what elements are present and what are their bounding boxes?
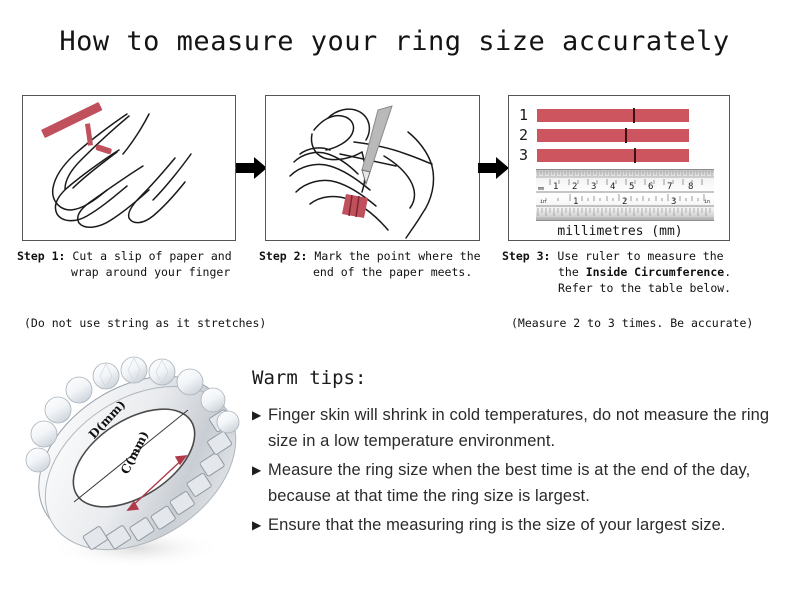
ruler-graphic: 1 2 3 4 5 6 7 8 mm 1 2 (536, 169, 714, 221)
strip-row-1: 1 (519, 108, 689, 123)
svg-text:6: 6 (648, 182, 653, 192)
strip-number-1: 1 (519, 108, 537, 123)
step-1-note: (Do not use string as it stretches) (24, 316, 266, 330)
triangle-bullet-icon: ▶ (252, 402, 268, 428)
measured-paper-strips: 1 2 3 (519, 108, 689, 168)
warm-tip-text-1: Finger skin will shrink in cold temperat… (268, 402, 772, 454)
triangle-bullet-icon: ▶ (252, 512, 268, 538)
strip-row-2: 2 (519, 128, 689, 143)
step-1-label: Step 1: (17, 249, 65, 263)
step-2-label: Step 2: (259, 249, 307, 263)
step-3-label: Step 3: (502, 249, 550, 263)
step-3-line2: the Inside Circumference. (502, 264, 747, 280)
svg-text:2: 2 (572, 182, 577, 192)
warm-tip-item-1: ▶ Finger skin will shrink in cold temper… (252, 402, 772, 454)
triangle-bullet-icon: ▶ (252, 457, 268, 483)
step-3-caption: Step 3: Use ruler to measure the the Ins… (502, 248, 747, 296)
step-1-image-panel (22, 95, 236, 241)
hand-with-paper-slip-illustration (23, 96, 236, 241)
ruler-unit-caption: millimetres (mm) (509, 224, 730, 239)
svg-text:4: 4 (610, 182, 615, 192)
step-2-image-panel (265, 95, 480, 241)
svg-text:in: in (540, 199, 546, 205)
arrow-right-icon-1 (236, 155, 268, 181)
step-1-caption: Step 1: Cut a slip of paper and wrap aro… (17, 248, 252, 280)
strip-bar-3 (537, 149, 689, 162)
strip-bar-2 (537, 129, 689, 142)
step-1-line1: Cut a slip of paper and (72, 249, 231, 263)
hand-marking-paper-illustration (266, 96, 480, 241)
infographic-page: How to measure your ring size accurately (0, 0, 789, 606)
strip-number-2: 2 (519, 128, 537, 143)
step-2-line1: Mark the point where the (314, 249, 480, 263)
paper-slip-red (41, 102, 112, 155)
step-3-line3: Refer to the table below. (502, 280, 747, 296)
strip-row-3: 3 (519, 148, 689, 163)
svg-text:1: 1 (553, 182, 558, 192)
step-3-image-panel: 1 2 3 (508, 95, 730, 241)
warm-tips-list: ▶ Finger skin will shrink in cold temper… (252, 402, 772, 541)
warm-tip-item-2: ▶ Measure the ring size when the best ti… (252, 457, 772, 509)
strip-number-3: 3 (519, 148, 537, 163)
step-3-note: (Measure 2 to 3 times. Be accurate) (511, 316, 753, 330)
step-1-line2: wrap around your finger (17, 264, 252, 280)
step-3-line2-prefix: the (558, 265, 586, 279)
step-2-line2: end of the paper meets. (259, 264, 494, 280)
step-3-inside-circumference: Inside Circumference (586, 265, 724, 279)
arrow-right-icon-2 (478, 155, 510, 181)
warm-tip-item-3: ▶ Ensure that the measuring ring is the … (252, 512, 772, 538)
warm-tip-text-3: Ensure that the measuring ring is the si… (268, 512, 726, 538)
step-2-caption: Step 2: Mark the point where the end of … (259, 248, 494, 280)
page-title: How to measure your ring size accurately (0, 26, 789, 57)
warm-tips-heading: Warm tips: (252, 367, 366, 389)
step-3-line2-suffix: . (724, 265, 731, 279)
svg-text:in: in (704, 199, 710, 205)
warm-tip-text-2: Measure the ring size when the best time… (268, 457, 772, 509)
svg-text:7: 7 (667, 182, 672, 192)
strip-bar-1 (537, 109, 689, 122)
svg-text:8: 8 (688, 182, 693, 192)
paper-band-red (342, 194, 368, 218)
step-3-line1: Use ruler to measure the (557, 249, 723, 263)
svg-text:5: 5 (629, 182, 634, 192)
svg-text:mm: mm (538, 186, 544, 192)
svg-text:3: 3 (591, 182, 596, 192)
